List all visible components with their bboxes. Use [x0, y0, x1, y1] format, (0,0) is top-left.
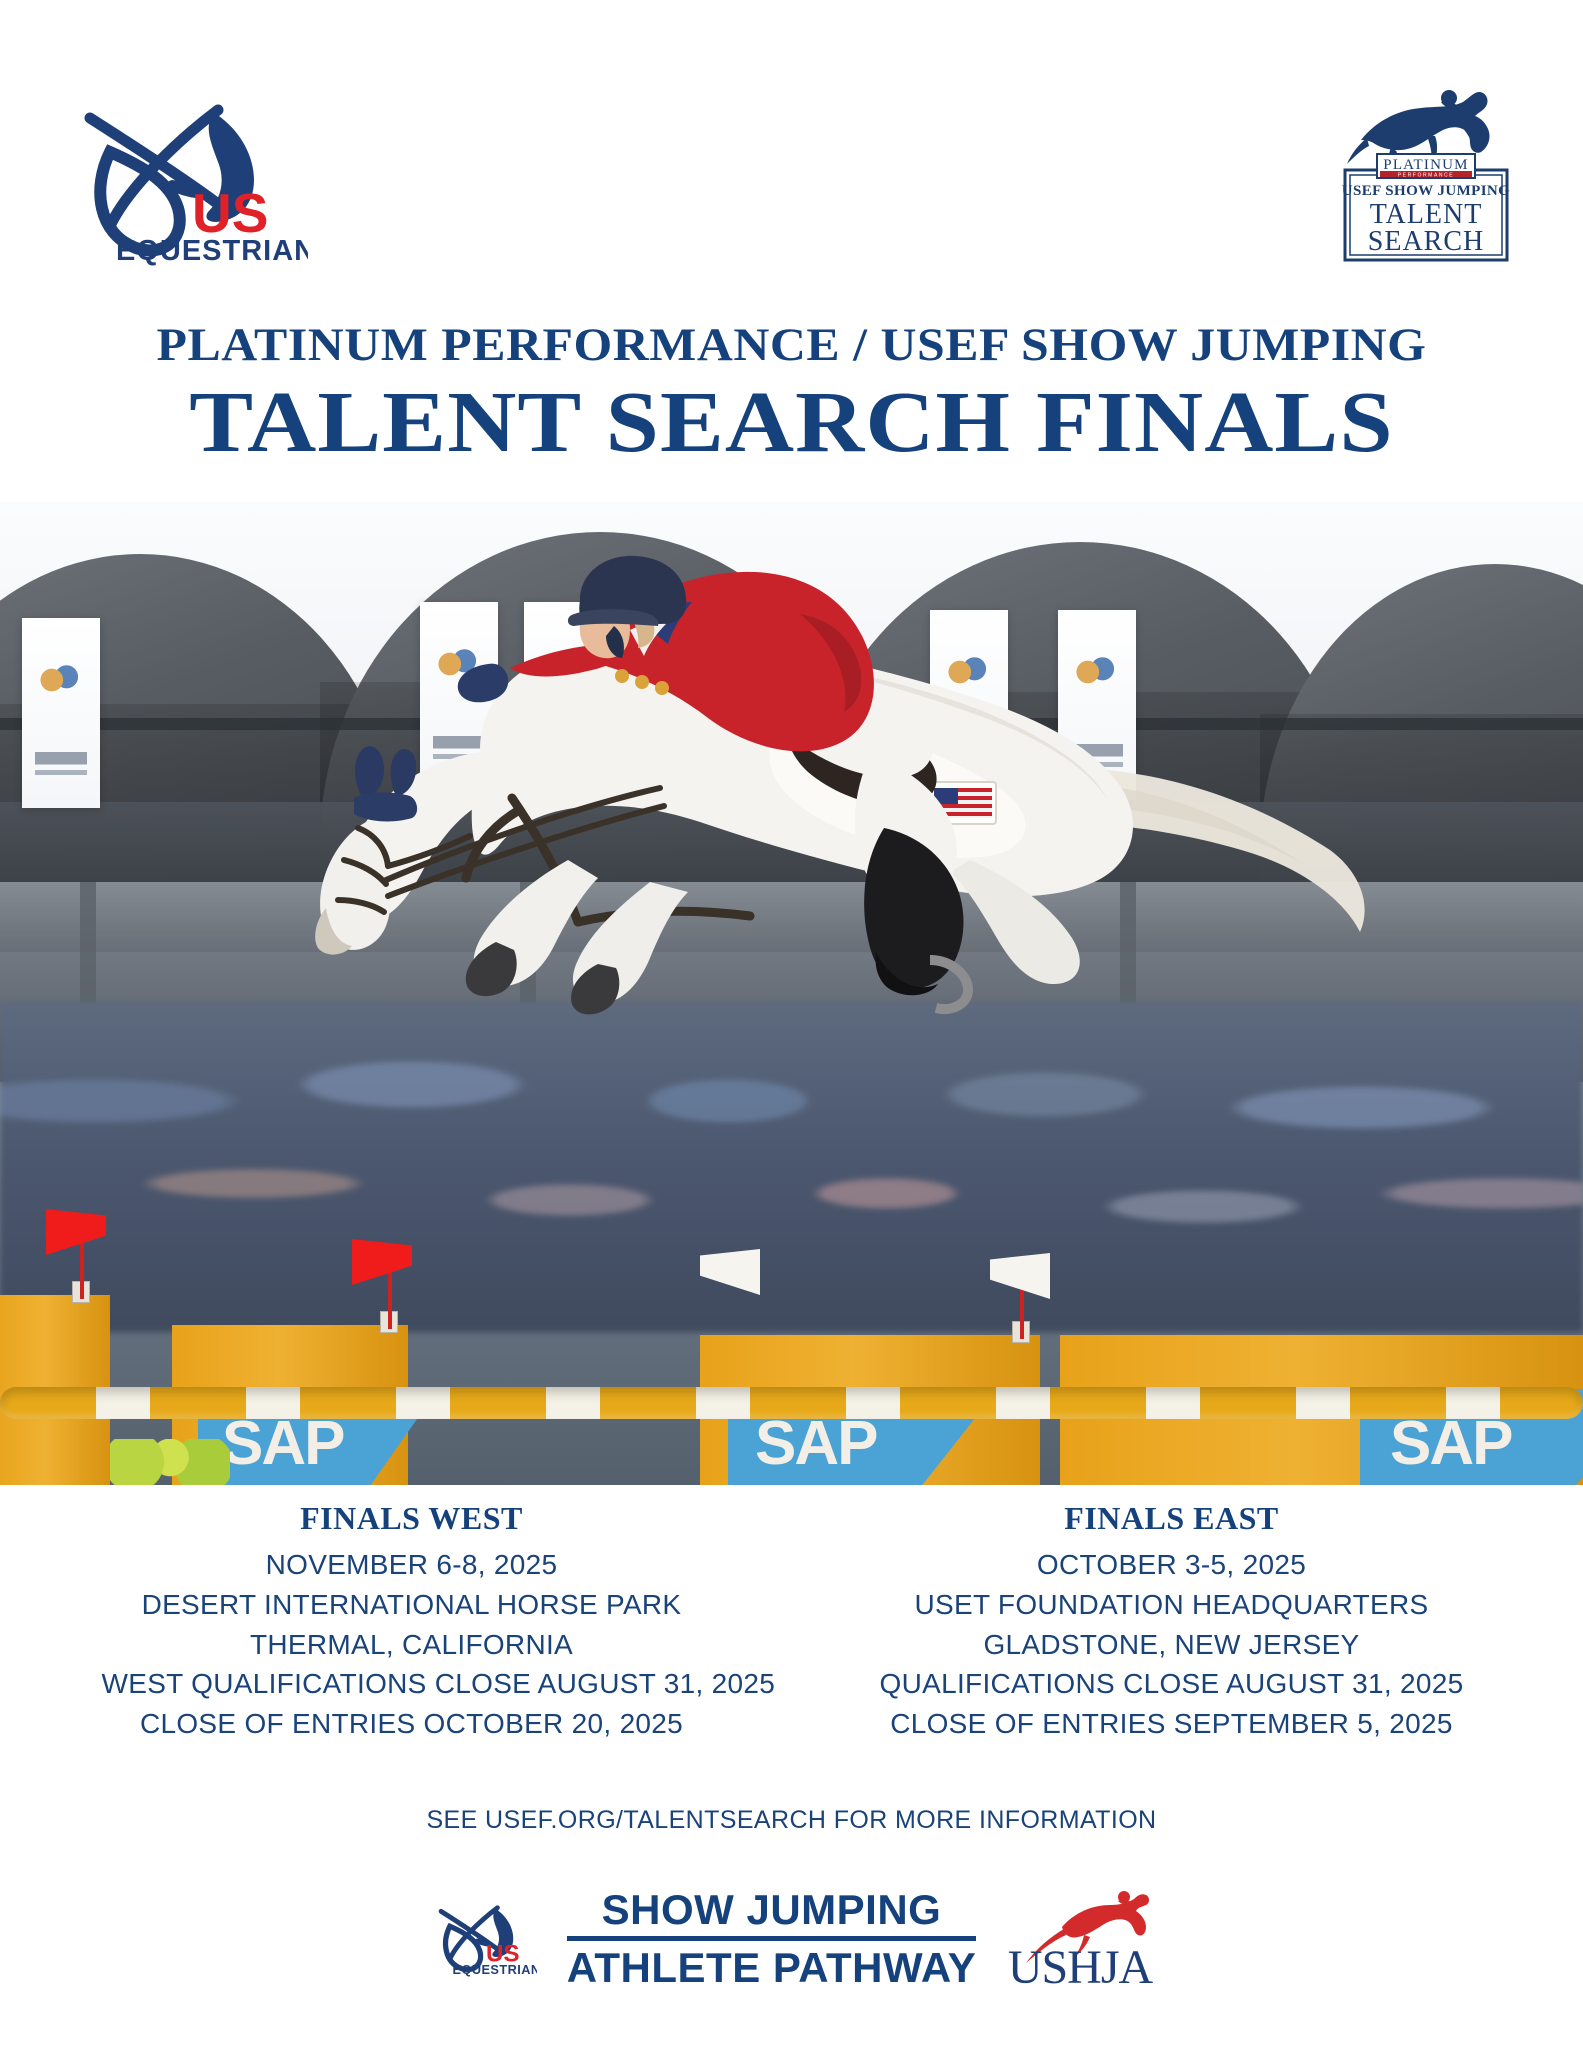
- pathway-divider: [567, 1936, 977, 1941]
- us-equestrian-logo-footer: US EQUESTRIAN: [427, 1887, 537, 1991]
- event-details: FINALS WEST NOVEMBER 6-8, 2025 DESERT IN…: [0, 1500, 1583, 1744]
- ts-logo-search-text: SEARCH: [1368, 226, 1484, 257]
- horse-and-rider: [330, 560, 1390, 1120]
- ushja-logo-text: USHJA: [1008, 1941, 1154, 1991]
- finals-east-line: QUALIFICATIONS CLOSE AUGUST 31, 2025: [862, 1664, 1482, 1704]
- pathway-line-1: SHOW JUMPING: [567, 1889, 977, 1931]
- more-information-line: SEE USEF.ORG/TALENTSEARCH FOR MORE INFOR…: [0, 1806, 1583, 1835]
- jump-rail: [0, 1387, 1583, 1419]
- jump-flag-pole: [1020, 1283, 1024, 1339]
- finals-east-line: USET FOUNDATION HEADQUARTERS: [862, 1585, 1482, 1625]
- arena-banner: [22, 618, 100, 808]
- jump-flag-pole: [80, 1237, 84, 1299]
- finals-west-heading: FINALS WEST: [102, 1500, 722, 1537]
- finals-west-line: THERMAL, CALIFORNIA: [102, 1625, 722, 1665]
- ts-logo-platinum-text: PLATINUM: [1383, 157, 1468, 173]
- finals-west-line: NOVEMBER 6-8, 2025: [102, 1545, 722, 1585]
- show-jumping-athlete-pathway-logo: SHOW JUMPING ATHLETE PATHWAY: [567, 1889, 977, 1989]
- horse-bonnet: [355, 746, 384, 798]
- finals-east-line: CLOSE OF ENTRIES SEPTEMBER 5, 2025: [862, 1704, 1482, 1744]
- finals-east-line: OCTOBER 3-5, 2025: [862, 1545, 1482, 1585]
- show-jumping-hero-photo: SAP SAP SAP: [0, 502, 1583, 1485]
- finals-west-line: DESERT INTERNATIONAL HORSE PARK: [102, 1585, 722, 1625]
- poster-footer: US EQUESTRIAN SHOW JUMPING ATHLETE PATHW…: [0, 1874, 1583, 2004]
- jump-greenery: [110, 1439, 230, 1485]
- finals-west-line: CLOSE OF ENTRIES OCTOBER 20, 2025: [102, 1704, 722, 1744]
- pathway-line-2: ATHLETE PATHWAY: [567, 1947, 977, 1989]
- finals-east-line: GLADSTONE, NEW JERSEY: [862, 1625, 1482, 1665]
- jump-flag-pole: [388, 1267, 392, 1329]
- poster-title-block: PLATINUM PERFORMANCE / USEF SHOW JUMPING…: [0, 322, 1583, 469]
- usef-logo-equestrian-text: EQUESTRIAN: [116, 235, 308, 266]
- poster-title-line-1: PLATINUM PERFORMANCE / USEF SHOW JUMPING: [0, 322, 1583, 369]
- ts-logo-usef-show-jumping-text: USEF SHOW JUMPING: [1342, 183, 1510, 199]
- platinum-usef-talent-search-logo: PLATINUM PERFORMANCE USEF SHOW JUMPING T…: [1331, 78, 1521, 264]
- finals-west-line: WEST QUALIFICATIONS CLOSE AUGUST 31, 202…: [102, 1664, 722, 1704]
- finals-east-column: FINALS EAST OCTOBER 3-5, 2025 USET FOUND…: [862, 1500, 1482, 1744]
- poster-header: US EQUESTRIAN: [0, 0, 1583, 500]
- ushja-logo: USHJA: [1006, 1887, 1156, 1991]
- footer-usef-equestrian-text: EQUESTRIAN: [452, 1962, 536, 1977]
- finals-west-column: FINALS WEST NOVEMBER 6-8, 2025 DESERT IN…: [102, 1500, 722, 1744]
- ts-logo-performance-text: PERFORMANCE: [1398, 173, 1455, 179]
- horse-front-hoof: [466, 942, 517, 996]
- finals-east-heading: FINALS EAST: [862, 1500, 1482, 1537]
- poster-title-line-2: TALENT SEARCH FINALS: [0, 375, 1583, 469]
- poster: US EQUESTRIAN: [0, 0, 1583, 2048]
- us-equestrian-logo: US EQUESTRIAN: [58, 96, 308, 266]
